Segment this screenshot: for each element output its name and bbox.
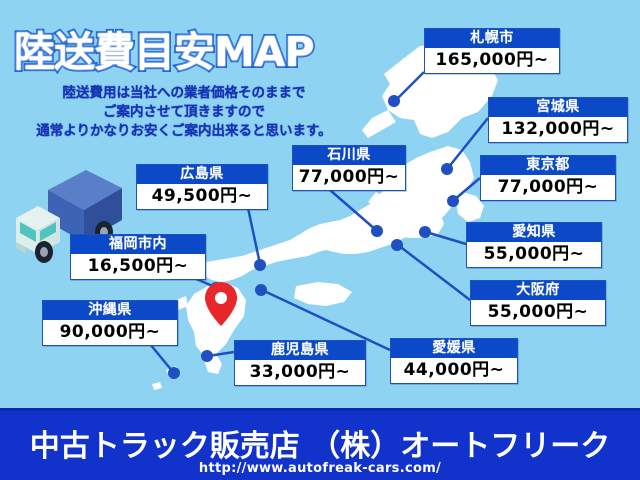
price-label-region-kagoshima: 鹿児島県 — [235, 341, 365, 360]
price-label-region-okinawa: 沖縄県 — [43, 301, 177, 320]
connector-aichi — [426, 232, 466, 244]
price-label-kagoshima[interactable]: 鹿児島県33,000円~ — [234, 340, 366, 386]
subtitle-line-1: 陸送費用は当社への業者価格そのままで — [0, 84, 368, 103]
dot-hiroshima — [254, 259, 266, 271]
price-label-tokyo[interactable]: 東京都77,000円~ — [480, 155, 616, 201]
dot-aichi — [419, 226, 431, 238]
dot-ishikawa — [371, 225, 383, 237]
price-label-region-ishikawa: 石川県 — [293, 146, 405, 165]
subtitle-line-3: 通常よりかなりお安くご案内出来ると思います。 — [0, 122, 368, 141]
dot-okinawa — [168, 367, 180, 379]
dot-tokyo — [447, 195, 459, 207]
price-label-region-aichi: 愛知県 — [467, 223, 601, 242]
price-label-region-fukuoka: 福岡市内 — [71, 235, 205, 254]
price-label-region-sapporo: 札幌市 — [425, 29, 559, 48]
price-label-value-tokyo: 77,000円~ — [481, 175, 615, 200]
dot-sapporo — [388, 95, 400, 107]
page-title: 陸送費目安MAP — [14, 18, 314, 78]
company-name: 中古トラック販売店 （株）オートフリーク — [0, 421, 640, 465]
price-label-region-ehime: 愛媛県 — [391, 339, 517, 358]
price-label-osaka[interactable]: 大阪府55,000円~ — [470, 280, 606, 326]
subtitle-block: 陸送費用は当社への業者価格そのままで ご案内させて頂きますので 通常よりかなりお… — [0, 84, 368, 141]
price-label-value-miyagi: 132,000円~ — [489, 117, 627, 142]
price-label-region-osaka: 大阪府 — [471, 281, 605, 300]
price-label-value-ishikawa: 77,000円~ — [293, 165, 405, 190]
price-label-region-hiroshima: 広島県 — [137, 165, 267, 184]
price-label-fukuoka[interactable]: 福岡市内16,500円~ — [70, 234, 206, 280]
dot-osaka — [391, 239, 403, 251]
price-label-value-okinawa: 90,000円~ — [43, 320, 177, 345]
price-label-region-tokyo: 東京都 — [481, 156, 615, 175]
subtitle-line-2: ご案内させて頂きますので — [0, 103, 368, 122]
connector-okinawa — [150, 344, 173, 372]
price-label-miyagi[interactable]: 宮城県132,000円~ — [488, 97, 628, 143]
price-label-value-sapporo: 165,000円~ — [425, 48, 559, 73]
price-label-value-ehime: 44,000円~ — [391, 358, 517, 383]
price-label-sapporo[interactable]: 札幌市165,000円~ — [424, 28, 560, 74]
price-label-value-fukuoka: 16,500円~ — [71, 254, 205, 279]
price-label-ehime[interactable]: 愛媛県44,000円~ — [390, 338, 518, 384]
price-label-region-miyagi: 宮城県 — [489, 98, 627, 117]
price-label-okinawa[interactable]: 沖縄県90,000円~ — [42, 300, 178, 346]
price-label-ishikawa[interactable]: 石川県77,000円~ — [292, 145, 406, 191]
connector-osaka — [398, 245, 470, 300]
dot-kagoshima — [201, 350, 213, 362]
dot-miyagi — [441, 163, 453, 175]
price-label-value-hiroshima: 49,500円~ — [137, 184, 267, 209]
price-label-value-aichi: 55,000円~ — [467, 242, 601, 267]
price-label-value-osaka: 55,000円~ — [471, 300, 605, 325]
dot-ehime — [255, 284, 267, 296]
price-label-value-kagoshima: 33,000円~ — [235, 360, 365, 385]
website-url[interactable]: http://www.autofreak-cars.com/ — [0, 461, 640, 476]
price-label-hiroshima[interactable]: 広島県49,500円~ — [136, 164, 268, 210]
footer-bar: 中古トラック販売店 （株）オートフリーク http://www.autofrea… — [0, 408, 640, 480]
price-label-aichi[interactable]: 愛知県55,000円~ — [466, 222, 602, 268]
shipping-cost-map-banner: 陸送費目安MAP 陸送費用は当社への業者価格そのままで ご案内させて頂きますので… — [0, 0, 640, 480]
